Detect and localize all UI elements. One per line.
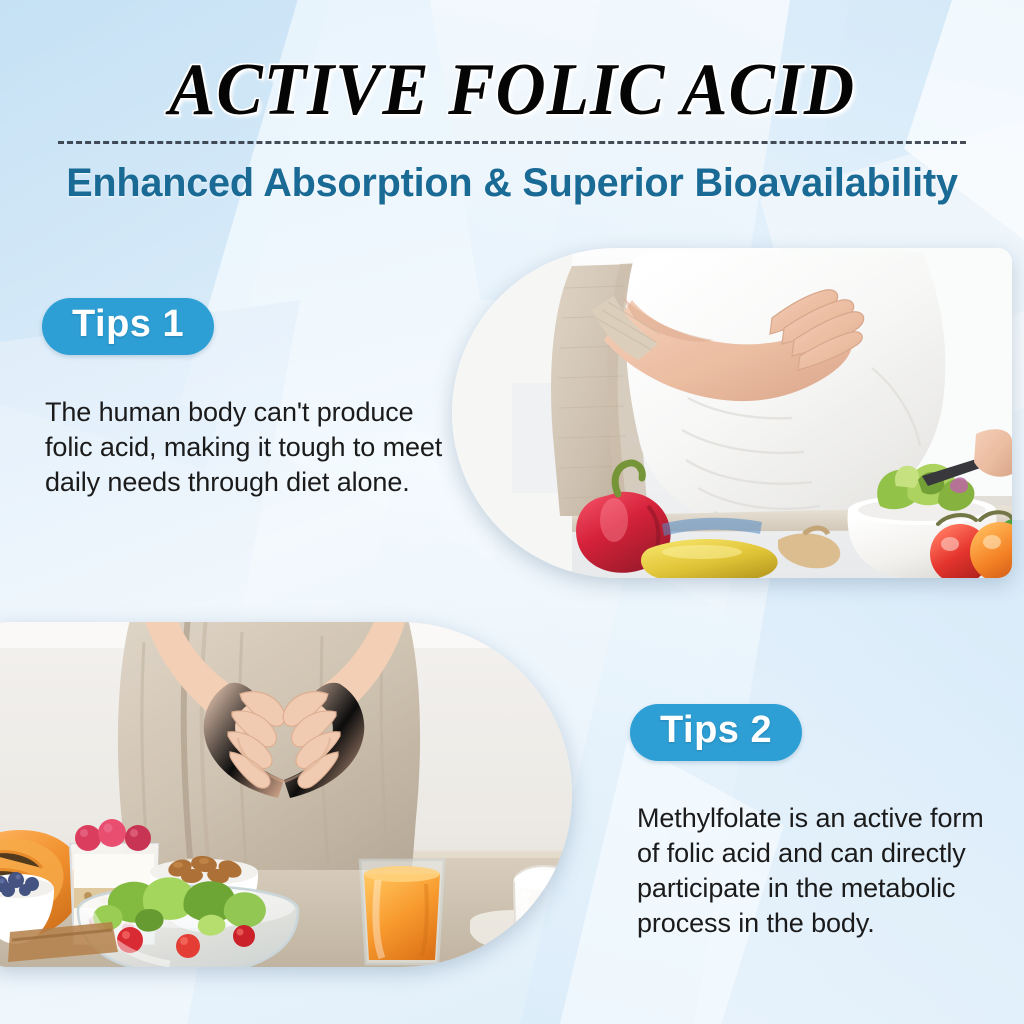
dashed-divider — [58, 141, 966, 144]
tips-2-badge: Tips 2 — [630, 704, 802, 761]
tips-block-1: Tips 1 The human body can't produce foli… — [42, 298, 462, 500]
header: ACTIVE FOLIC ACID Enhanced Absorption & … — [0, 0, 1024, 206]
tips-2-body-text: Methylfolate is an active form of folic … — [637, 801, 1010, 941]
page-subtitle: Enhanced Absorption & Superior Bioavaila… — [5, 161, 1019, 206]
tips-1-badge: Tips 1 — [42, 298, 214, 355]
pregnant-woman-illustration — [452, 248, 1012, 578]
photo-hands-heart-with-healthy-food — [0, 622, 572, 967]
page-title: ACTIVE FOLIC ACID — [31, 52, 994, 129]
hands-heart-illustration — [0, 622, 572, 967]
tips-1-body-text: The human body can't produce folic acid,… — [45, 395, 462, 500]
tips-block-2: Tips 2 Methylfolate is an active form of… — [630, 704, 1010, 941]
photo-pregnant-woman-with-salad — [452, 248, 1012, 578]
poster-canvas: ACTIVE FOLIC ACID Enhanced Absorption & … — [0, 0, 1024, 1024]
